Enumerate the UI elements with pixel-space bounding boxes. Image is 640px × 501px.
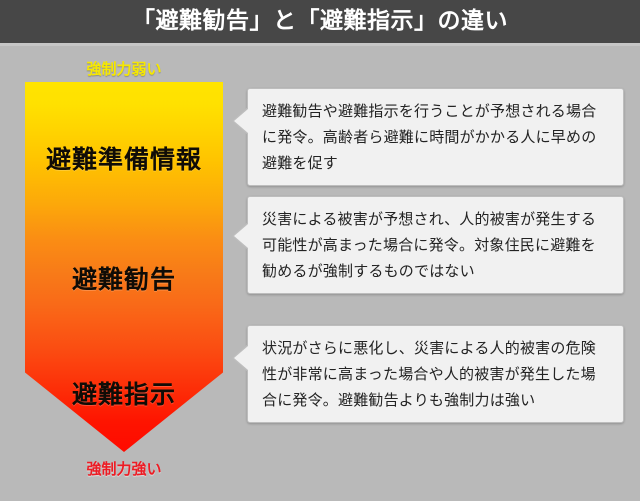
- stage-label-evacuation-instruction: 避難指示: [25, 375, 223, 411]
- callout-pointer-fill-icon: [234, 346, 248, 370]
- weak-enforcement-caption: 強制力弱い: [25, 58, 223, 79]
- callout-text: 状況がさらに悪化し、災害による人的被害の危険性が非常に高まった場合や人的被害が発…: [262, 335, 610, 413]
- callout-box-evacuation-advisory: 災害による被害が予想され、人的被害が発生する可能性が高まった場合に発令。対象住民…: [247, 196, 624, 294]
- stage-label-evacuation-advisory: 避難勧告: [25, 260, 223, 296]
- callout-text: 避難勧告や避難指示を行うことが予想される場合に発令。高齢者ら避難に時間がかかる人…: [262, 98, 610, 176]
- callout-text: 災害による被害が予想され、人的被害が発生する可能性が高まった場合に発令。対象住民…: [262, 206, 610, 284]
- escalation-arrow: 避難準備情報 避難勧告 避難指示: [25, 82, 223, 452]
- page-title: 「避難勧告」と「避難指示」の違い: [0, 0, 640, 43]
- callout-box-evacuation-preparation: 避難勧告や避難指示を行うことが予想される場合に発令。高齢者ら避難に時間がかかる人…: [247, 88, 624, 186]
- callout-box-evacuation-instruction: 状況がさらに悪化し、災害による人的被害の危険性が非常に高まった場合や人的被害が発…: [247, 325, 624, 423]
- callout-pointer-fill-icon: [234, 224, 248, 248]
- strong-enforcement-caption: 強制力強い: [25, 458, 223, 479]
- stage-label-evacuation-preparation: 避難準備情報: [25, 140, 223, 176]
- callout-pointer-fill-icon: [234, 109, 248, 133]
- header-bar: 「避難勧告」と「避難指示」の違い: [0, 0, 640, 43]
- header-divider: [0, 43, 640, 46]
